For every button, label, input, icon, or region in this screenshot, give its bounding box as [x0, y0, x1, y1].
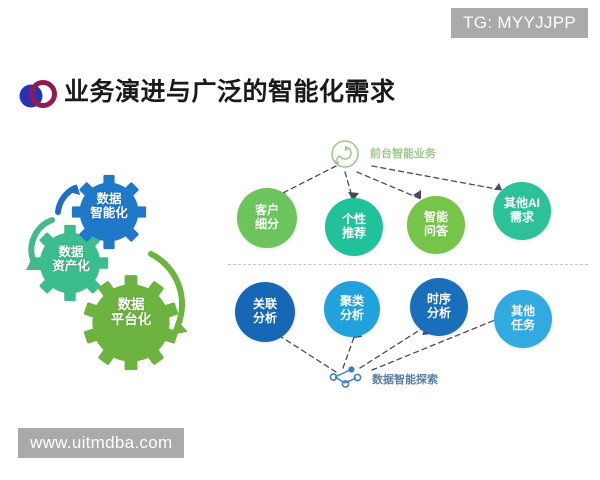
- node-other-tasks[interactable]: 其他 任务: [494, 290, 552, 348]
- node-customer-segmentation[interactable]: 客户 细分: [237, 188, 297, 248]
- front-office-label: 前台智能业务: [370, 145, 436, 161]
- node-intelligent-qa[interactable]: 智能 问答: [407, 196, 465, 254]
- connector-top-3: [357, 172, 421, 199]
- gear-data-platformization-shape: [84, 275, 179, 370]
- node-label: 其他AI 需求: [504, 197, 540, 225]
- data-exploration-label: 数据智能探索: [372, 371, 438, 387]
- connector-top-4: [372, 166, 502, 190]
- target-rotate-icon: [326, 137, 364, 173]
- node-label: 客户 细分: [255, 204, 279, 232]
- site-watermark: www.uitmdba.com: [18, 428, 184, 458]
- connector-bot-3: [360, 326, 426, 368]
- node-timeseries-analysis[interactable]: 时序 分析: [410, 278, 468, 336]
- node-personalized-recommendation[interactable]: 个性 推荐: [325, 198, 383, 256]
- gear-graphics: [18, 160, 218, 370]
- tg-watermark: TG: MYYJJPP: [451, 8, 588, 38]
- connector-arrowheads: [272, 183, 505, 340]
- node-label: 聚类 分析: [340, 295, 364, 323]
- node-association-analysis[interactable]: 关联 分析: [235, 282, 295, 342]
- node-clustering-analysis[interactable]: 聚类 分析: [324, 281, 380, 337]
- node-label: 时序 分析: [427, 293, 451, 321]
- slide-canvas: 业务演进与广泛的智能化需求: [0, 0, 600, 480]
- node-other-ai-demand[interactable]: 其他AI 需求: [493, 182, 551, 240]
- node-label: 其他 任务: [511, 305, 535, 333]
- node-label: 智能 问答: [424, 211, 448, 239]
- gear-data-intelligence-shape: [72, 175, 146, 249]
- slide-header: 业务演进与广泛的智能化需求: [0, 72, 600, 118]
- section-divider: [228, 264, 588, 265]
- brand-logo-icon: [16, 78, 60, 112]
- page-title: 业务演进与广泛的智能化需求: [64, 72, 396, 112]
- node-label: 个性 推荐: [342, 213, 366, 241]
- connector-top-2: [345, 172, 353, 200]
- share-nodes-icon: [326, 363, 366, 391]
- node-label: 关联 分析: [253, 298, 277, 326]
- gear-cluster: 数据 智能化 数据 资产化 数据 平台化: [18, 160, 218, 370]
